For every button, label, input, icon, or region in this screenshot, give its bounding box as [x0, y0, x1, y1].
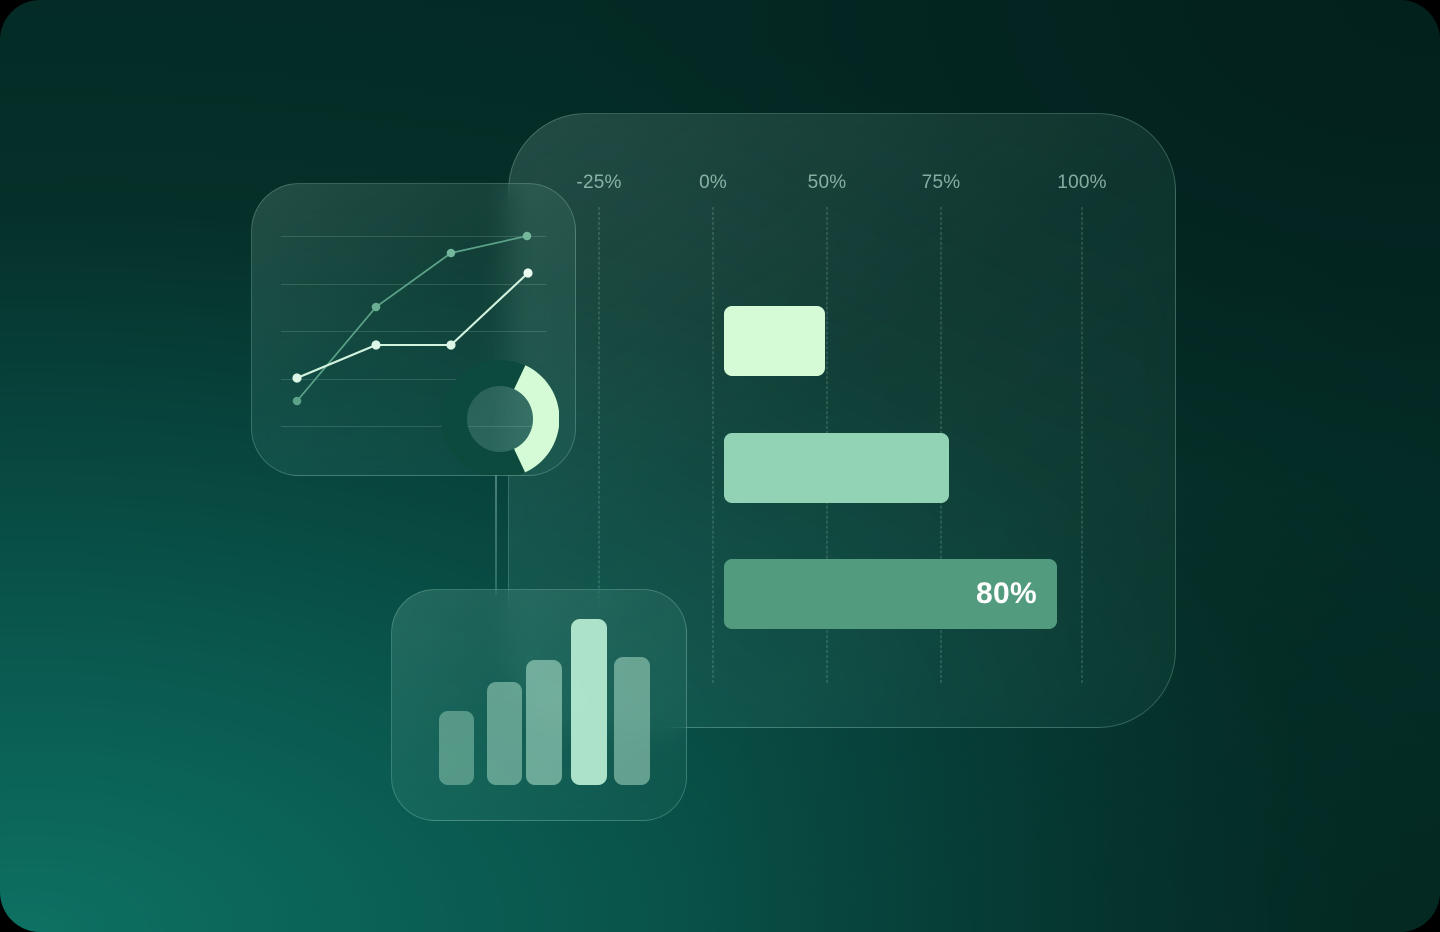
x-tick-label-0: -25% — [576, 172, 621, 194]
line-point-dark-0 — [293, 397, 302, 406]
horizontal-bar-3[interactable]: 80% — [724, 559, 1057, 629]
column-bar-5[interactable] — [614, 657, 650, 785]
donut-center-disc — [467, 386, 533, 452]
line-point-dark-3 — [523, 232, 532, 241]
x-tick-label-2: 50% — [808, 172, 847, 194]
horizontal-bar-2[interactable] — [724, 433, 949, 503]
column-bar-1[interactable] — [439, 711, 474, 785]
line-point-light-1 — [371, 340, 380, 349]
panel-connector-line — [495, 470, 497, 595]
line-point-light-3 — [523, 268, 532, 277]
line-chart-panel — [251, 183, 576, 476]
donut-chart-svg — [441, 360, 559, 476]
column-chart-panel — [391, 589, 687, 821]
gridline-vertical-4 — [1082, 207, 1083, 683]
horizontal-bar-3-value-label: 80% — [976, 577, 1037, 611]
gridline-vertical-1 — [713, 207, 714, 683]
column-bar-3[interactable] — [526, 660, 562, 785]
donut-chart[interactable] — [441, 360, 559, 476]
column-bar-2[interactable] — [487, 682, 522, 785]
line-point-light-2 — [446, 340, 455, 349]
line-point-dark-2 — [447, 249, 456, 258]
x-tick-label-1: 0% — [699, 172, 727, 194]
line-point-dark-1 — [372, 303, 381, 312]
line-point-light-0 — [292, 373, 301, 382]
column-bar-4[interactable] — [571, 619, 607, 785]
illustration-canvas: -25% 0% 50% 75% 100% 80% — [0, 0, 1440, 932]
x-tick-label-3: 75% — [922, 172, 961, 194]
horizontal-bar-1[interactable] — [724, 306, 825, 376]
x-tick-label-4: 100% — [1057, 172, 1106, 194]
